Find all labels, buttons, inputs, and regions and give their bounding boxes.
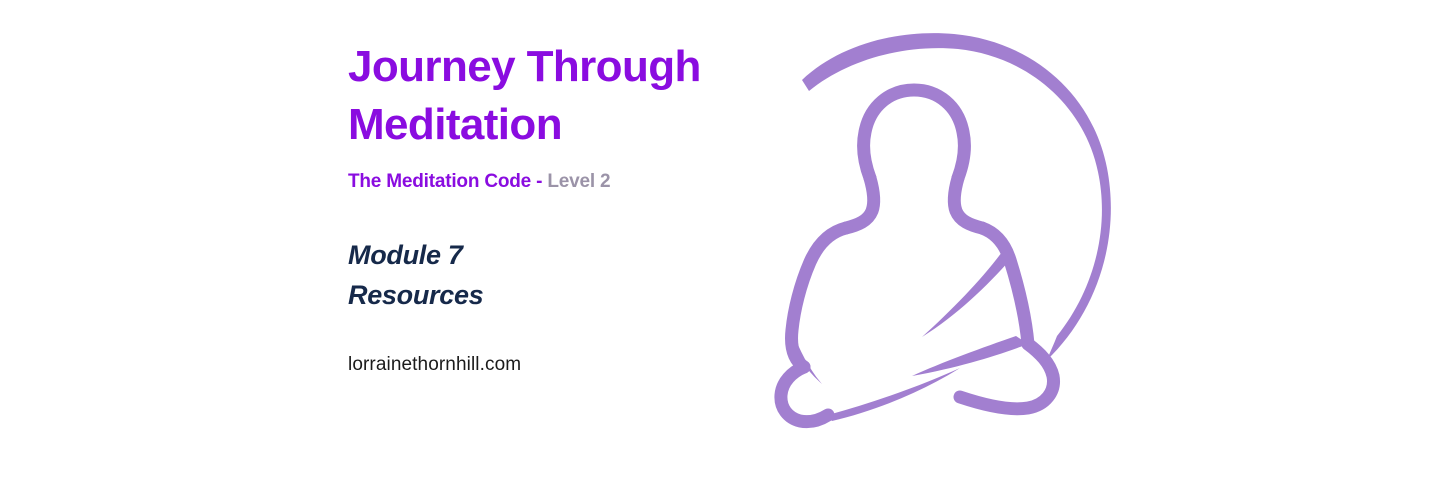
- page-title: Journey Through Meditation: [348, 38, 768, 154]
- website-url: lorrainethornhill.com: [348, 353, 768, 377]
- meditating-figure-logo: [762, 22, 1132, 412]
- figure-left-hip-loop: [781, 367, 828, 422]
- text-content-block: Journey Through Meditation The Meditatio…: [348, 38, 768, 377]
- figure-inner-arm-taper: [922, 252, 1010, 337]
- module-heading: Module 7 Resources: [348, 235, 768, 315]
- figure-left-thigh-taper: [828, 368, 960, 421]
- figure-right-torso-outline: [982, 228, 1028, 344]
- subtitle-program-name: The Meditation Code -: [348, 171, 547, 192]
- figure-neck-right-outline: [954, 178, 982, 228]
- figure-left-torso-outline: [792, 228, 847, 367]
- subtitle: The Meditation Code - Level 2: [348, 170, 768, 194]
- subtitle-level: Level 2: [547, 171, 610, 192]
- slide-canvas: Journey Through Meditation The Meditatio…: [0, 0, 1456, 479]
- figure-head-outline: [864, 90, 965, 178]
- meditation-logo-svg: [762, 22, 1132, 412]
- figure-neck-left-outline: [846, 178, 874, 228]
- figure-right-thigh-taper: [912, 336, 1028, 376]
